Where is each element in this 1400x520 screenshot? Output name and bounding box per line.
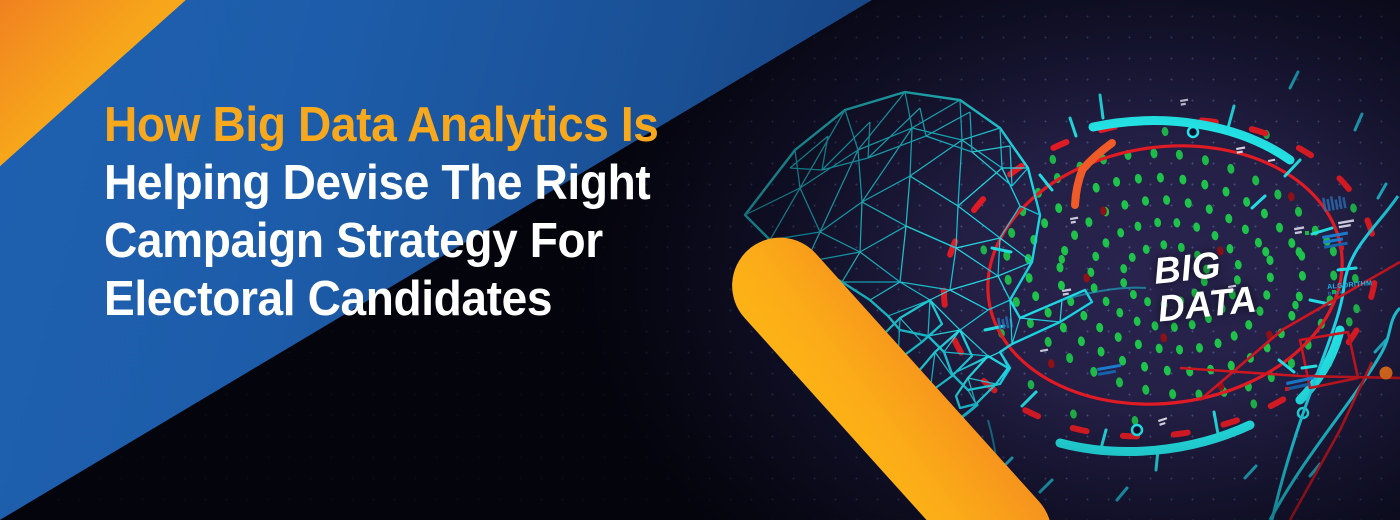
headline-line-2: Helping Devise The Right	[104, 154, 743, 212]
page-title: How Big Data Analytics Is Helping Devise…	[104, 96, 743, 328]
cyan-node-tick	[1302, 366, 1316, 368]
big-data-label: BIG DATA	[1152, 243, 1259, 329]
headline-line-1: How Big Data Analytics Is	[104, 96, 743, 154]
background-cyan-dashes	[910, 72, 1386, 500]
hero-banner: How Big Data Analytics Is Helping Devise…	[0, 0, 1400, 520]
arc-node-bottom	[1132, 425, 1142, 435]
headline-line-4: Electoral Candidates	[104, 270, 743, 328]
headline-line-3: Campaign Strategy For	[104, 212, 743, 270]
orange-node-dot	[1380, 367, 1393, 380]
orange-arc-2	[1075, 168, 1083, 205]
hud-bar-cluster	[1322, 194, 1347, 212]
arc-node-top	[1188, 127, 1198, 137]
